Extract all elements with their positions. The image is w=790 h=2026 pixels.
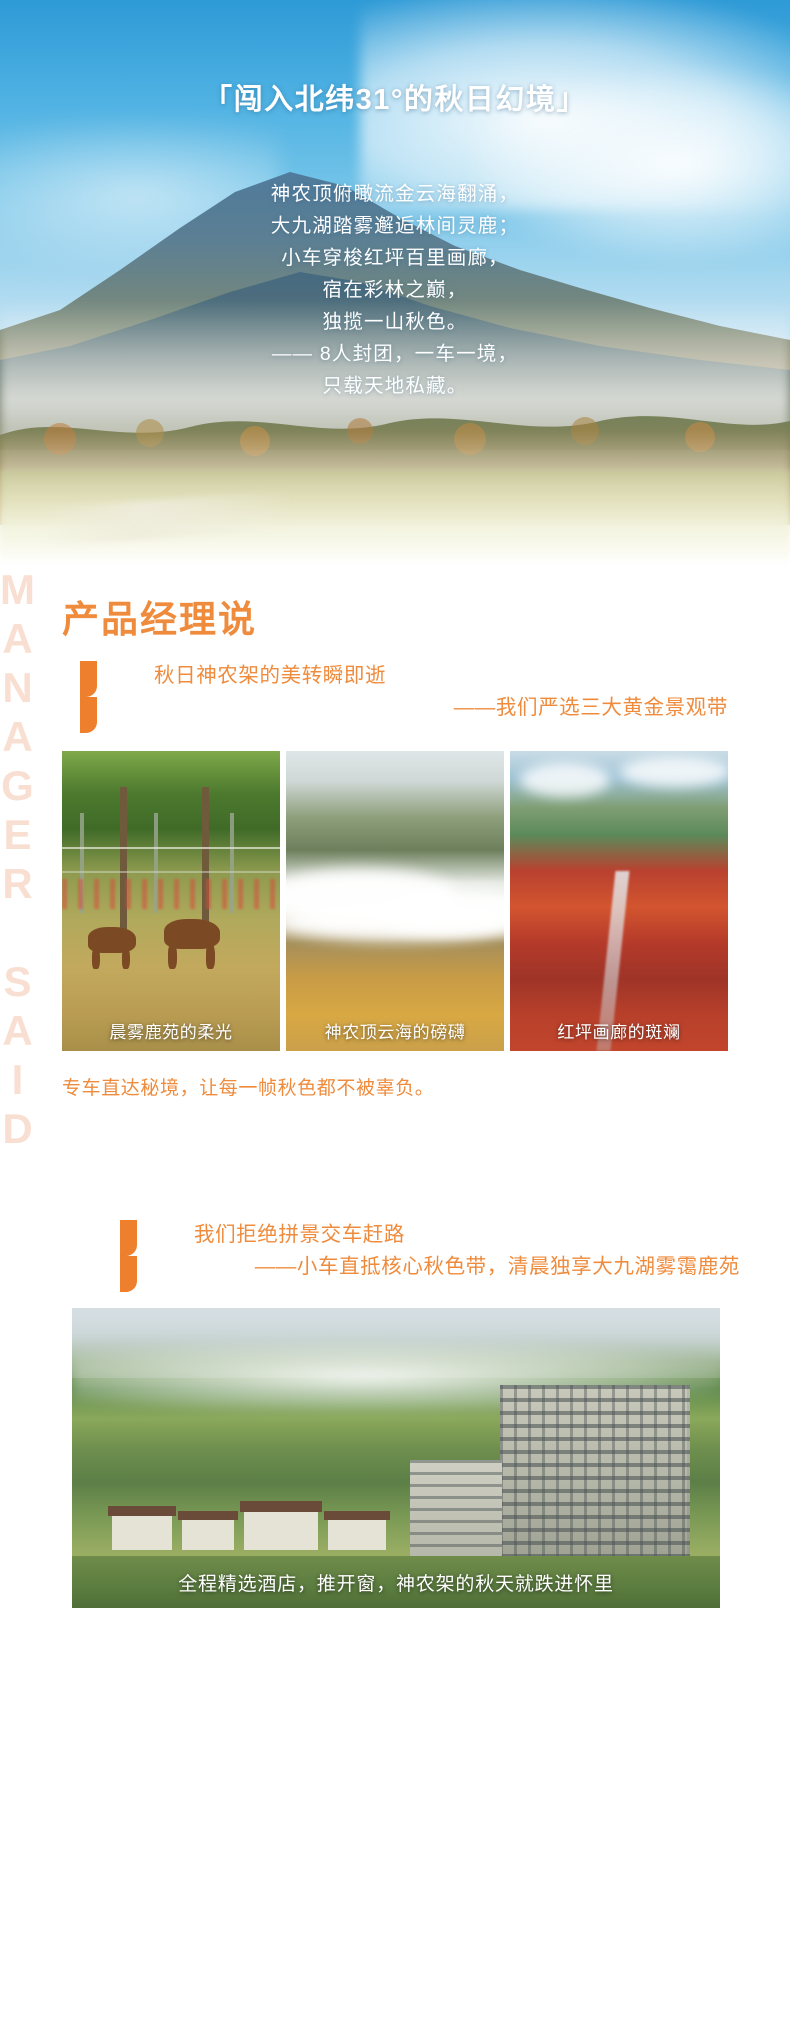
section-heading: 产品经理说: [0, 565, 790, 643]
hotel-side-building: [410, 1460, 502, 1556]
poem-line: 神农顶俯瞰流金云海翻涌，: [0, 178, 790, 210]
poem-line: —— 8人封团，一车一境，: [0, 338, 790, 370]
quote-block-2: 我们拒绝拼景交车赶路 ——小车直抵核心秋色带，清晨独享大九湖雾霭鹿苑: [0, 1220, 790, 1284]
gallery-card-caption: 神农顶云海的磅礴: [286, 1018, 504, 1043]
manager-said-watermark: MANAGER SAID: [0, 566, 38, 1154]
hero-poem: 神农顶俯瞰流金云海翻涌， 大九湖踏雾邂逅林间灵鹿； 小车穿梭红坪百里画廊， 宿在…: [0, 178, 790, 402]
quote2-line1: 我们拒绝拼景交车赶路: [62, 1220, 750, 1250]
quote1-line1: 秋日神农架的美转瞬即逝: [62, 661, 750, 691]
hotel-photo-card[interactable]: 全程精选酒店，推开窗，神农架的秋天就跌进怀里: [72, 1308, 720, 1608]
poem-line: 宿在彩林之巅，: [0, 274, 790, 306]
quote2-line2: ——小车直抵核心秋色带，清晨独享大九湖雾霭鹿苑: [62, 1250, 750, 1284]
quote-open-icon: [120, 1220, 162, 1256]
hotel-main-building: [500, 1385, 690, 1560]
gallery-card-caption: 红坪画廊的斑斓: [510, 1018, 728, 1043]
gallery-card[interactable]: 晨雾鹿苑的柔光: [62, 751, 280, 1051]
gallery-card[interactable]: 红坪画廊的斑斓: [510, 751, 728, 1051]
quote1-line2: ——我们严选三大黄金景观带: [62, 691, 750, 725]
hotel-caption: 全程精选酒店，推开窗，神农架的秋天就跌进怀里: [72, 1569, 720, 1596]
poem-line: 小车穿梭红坪百里画廊，: [0, 242, 790, 274]
quote-block-1: 秋日神农架的美转瞬即逝 ——我们严选三大黄金景观带: [0, 661, 790, 725]
page-title: 「闯入北纬31°的秋日幻境」: [0, 76, 790, 118]
poem-line: 只载天地私藏。: [0, 370, 790, 402]
gallery-note: 专车直达秘境，让每一帧秋色都不被辜负。: [62, 1073, 790, 1100]
gallery-card[interactable]: 神农顶云海的磅礴: [286, 751, 504, 1051]
hotel-village-cluster: [112, 1480, 392, 1550]
gallery-card-caption: 晨雾鹿苑的柔光: [62, 1018, 280, 1043]
poem-line: 独揽一山秋色。: [0, 306, 790, 338]
poem-line: 大九湖踏雾邂逅林间灵鹿；: [0, 210, 790, 242]
bottom-spacer: [0, 1608, 790, 1668]
gallery-row: 晨雾鹿苑的柔光 神农顶云海的磅礴 红坪画廊的斑斓: [62, 751, 728, 1051]
hero-banner: 「闯入北纬31°的秋日幻境」 神农顶俯瞰流金云海翻涌， 大九湖踏雾邂逅林间灵鹿；…: [0, 0, 790, 565]
quote-open-icon: [80, 661, 122, 697]
manager-said-section: MANAGER SAID 产品经理说 秋日神农架的美转瞬即逝 ——我们严选三大黄…: [0, 565, 790, 1668]
